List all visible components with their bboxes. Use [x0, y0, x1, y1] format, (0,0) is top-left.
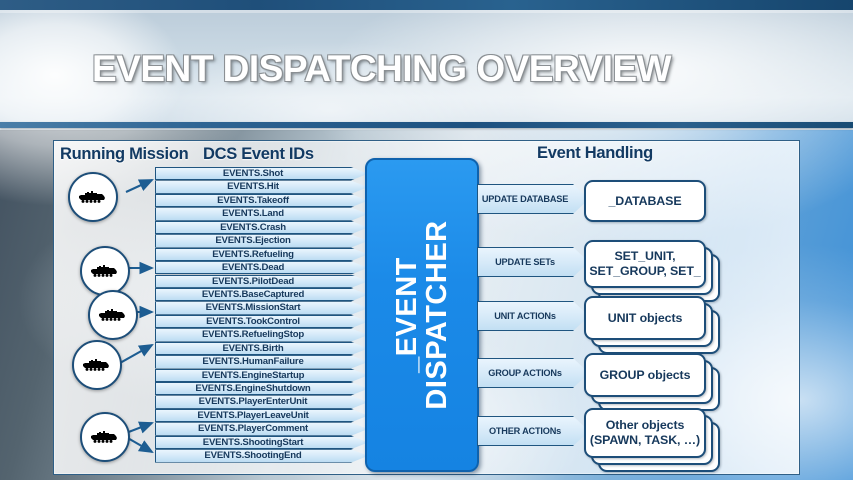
tank-icon — [90, 263, 120, 279]
event-id-row[interactable]: EVENTS.Crash — [155, 221, 368, 234]
event-id-row[interactable]: EVENTS.ShootingEnd — [155, 449, 368, 462]
top-accent-highlight — [0, 10, 853, 13]
event-id-label: EVENTS.Birth — [155, 342, 351, 355]
handler-target-stack: Other objects(SPAWN, TASK, …) — [584, 408, 724, 476]
handler-target-stack: GROUP objects — [584, 353, 724, 415]
event-id-row[interactable]: EVENTS.ShootingStart — [155, 436, 368, 449]
handler-action-label: UPDATE DATABASE — [477, 184, 573, 214]
event-id-label: EVENTS.Ejection — [155, 234, 351, 247]
mission-unit-icon-2[interactable] — [80, 246, 130, 296]
event-id-label: EVENTS.Land — [155, 207, 351, 220]
event-id-label: EVENTS.PlayerEnterUnit — [155, 395, 351, 408]
event-id-label: EVENTS.PilotDead — [155, 275, 351, 288]
event-id-row[interactable]: EVENTS.Takeoff — [155, 194, 368, 207]
event-id-row[interactable]: EVENTS.Dead — [155, 261, 368, 274]
handler-target-card[interactable]: Other objects(SPAWN, TASK, …) — [584, 408, 706, 458]
event-id-row[interactable]: EVENTS.HumanFailure — [155, 355, 368, 368]
mission-unit-icon-1[interactable] — [68, 172, 118, 222]
event-id-list: EVENTS.ShotEVENTS.HitEVENTS.TakeoffEVENT… — [155, 167, 368, 463]
mission-unit-icon-3[interactable] — [88, 290, 138, 340]
event-id-label: EVENTS.PlayerComment — [155, 422, 351, 435]
event-id-label: EVENTS.Refueling — [155, 248, 351, 261]
column-heading-running-mission: Running Mission — [60, 145, 188, 164]
event-id-row[interactable]: EVENTS.PlayerComment — [155, 422, 368, 435]
event-id-row[interactable]: EVENTS.EngineShutdown — [155, 382, 368, 395]
tank-icon — [78, 189, 108, 205]
slide-root: EVENT DISPATCHING OVERVIEW Running Missi… — [0, 0, 853, 480]
event-id-row[interactable]: EVENTS.Ejection — [155, 234, 368, 247]
tank-icon — [90, 429, 120, 445]
event-id-label: EVENTS.HumanFailure — [155, 355, 351, 368]
event-id-label: EVENTS.TookControl — [155, 315, 351, 328]
event-id-row[interactable]: EVENTS.BaseCaptured — [155, 288, 368, 301]
handler-target-card[interactable]: UNIT objects — [584, 296, 706, 340]
event-id-label: EVENTS.EngineStartup — [155, 369, 351, 382]
event-id-row[interactable]: EVENTS.PlayerEnterUnit — [155, 395, 368, 408]
handler-action-label: UPDATE SETs — [477, 247, 573, 277]
handler-target-card[interactable]: _DATABASE — [584, 180, 706, 222]
event-dispatcher-block[interactable]: _EVENT DISPATCHER — [365, 158, 479, 472]
event-id-label: EVENTS.ShootingEnd — [155, 449, 351, 462]
title-divider-band — [0, 122, 853, 128]
page-title: EVENT DISPATCHING OVERVIEW — [92, 48, 671, 90]
event-dispatcher-label: _EVENT DISPATCHER — [392, 220, 452, 409]
event-id-label: EVENTS.PlayerLeaveUnit — [155, 409, 351, 422]
handler-target-label: UNIT objects — [608, 311, 683, 326]
dispatcher-line-1: _EVENT — [392, 220, 422, 409]
handler-action-label: UNIT ACTIONs — [477, 301, 573, 331]
handler-action-label: GROUP ACTIONs — [477, 358, 573, 388]
tank-icon — [98, 307, 128, 323]
top-accent-band — [0, 0, 853, 10]
handler-target-card[interactable]: SET_UNIT,SET_GROUP, SET_ — [584, 240, 706, 288]
event-id-label: EVENTS.ShootingStart — [155, 436, 351, 449]
dispatcher-line-2: DISPATCHER — [422, 220, 452, 409]
event-id-label: EVENTS.MissionStart — [155, 301, 351, 314]
event-id-label: EVENTS.RefuelingStop — [155, 328, 351, 341]
event-id-row[interactable]: EVENTS.RefuelingStop — [155, 328, 368, 341]
event-id-label: EVENTS.EngineShutdown — [155, 382, 351, 395]
event-id-label: EVENTS.Dead — [155, 261, 351, 274]
event-id-label: EVENTS.Takeoff — [155, 194, 351, 207]
mission-unit-icon-5[interactable] — [80, 412, 130, 462]
handler-target-label: Other objects(SPAWN, TASK, …) — [590, 418, 700, 447]
event-id-label: EVENTS.Crash — [155, 221, 351, 234]
event-id-label: EVENTS.BaseCaptured — [155, 288, 351, 301]
handler-target-label: GROUP objects — [600, 368, 691, 383]
handler-action-label: OTHER ACTIONs — [477, 416, 573, 446]
event-id-row[interactable]: EVENTS.Birth — [155, 342, 368, 355]
column-heading-event-handling: Event Handling — [537, 144, 653, 163]
event-id-row[interactable]: EVENTS.Hit — [155, 180, 368, 193]
event-id-row[interactable]: EVENTS.PilotDead — [155, 275, 368, 288]
handler-target-stack: _DATABASE — [584, 180, 724, 240]
event-id-row[interactable]: EVENTS.PlayerLeaveUnit — [155, 409, 368, 422]
event-id-label: EVENTS.Hit — [155, 180, 351, 193]
tank-icon — [82, 357, 112, 373]
event-id-row[interactable]: EVENTS.Shot — [155, 167, 368, 180]
handler-target-label: SET_UNIT,SET_GROUP, SET_ — [589, 249, 700, 278]
event-id-row[interactable]: EVENTS.EngineStartup — [155, 369, 368, 382]
event-id-label: EVENTS.Shot — [155, 167, 351, 180]
mission-unit-icon-4[interactable] — [72, 340, 122, 390]
column-heading-dcs-event-ids: DCS Event IDs — [203, 145, 314, 164]
event-id-row[interactable]: EVENTS.Refueling — [155, 248, 368, 261]
handler-target-stack: UNIT objects — [584, 296, 724, 358]
event-id-row[interactable]: EVENTS.TookControl — [155, 315, 368, 328]
handler-target-label: _DATABASE — [609, 194, 682, 209]
event-id-row[interactable]: EVENTS.MissionStart — [155, 301, 368, 314]
handler-target-card[interactable]: GROUP objects — [584, 353, 706, 397]
event-id-row[interactable]: EVENTS.Land — [155, 207, 368, 220]
